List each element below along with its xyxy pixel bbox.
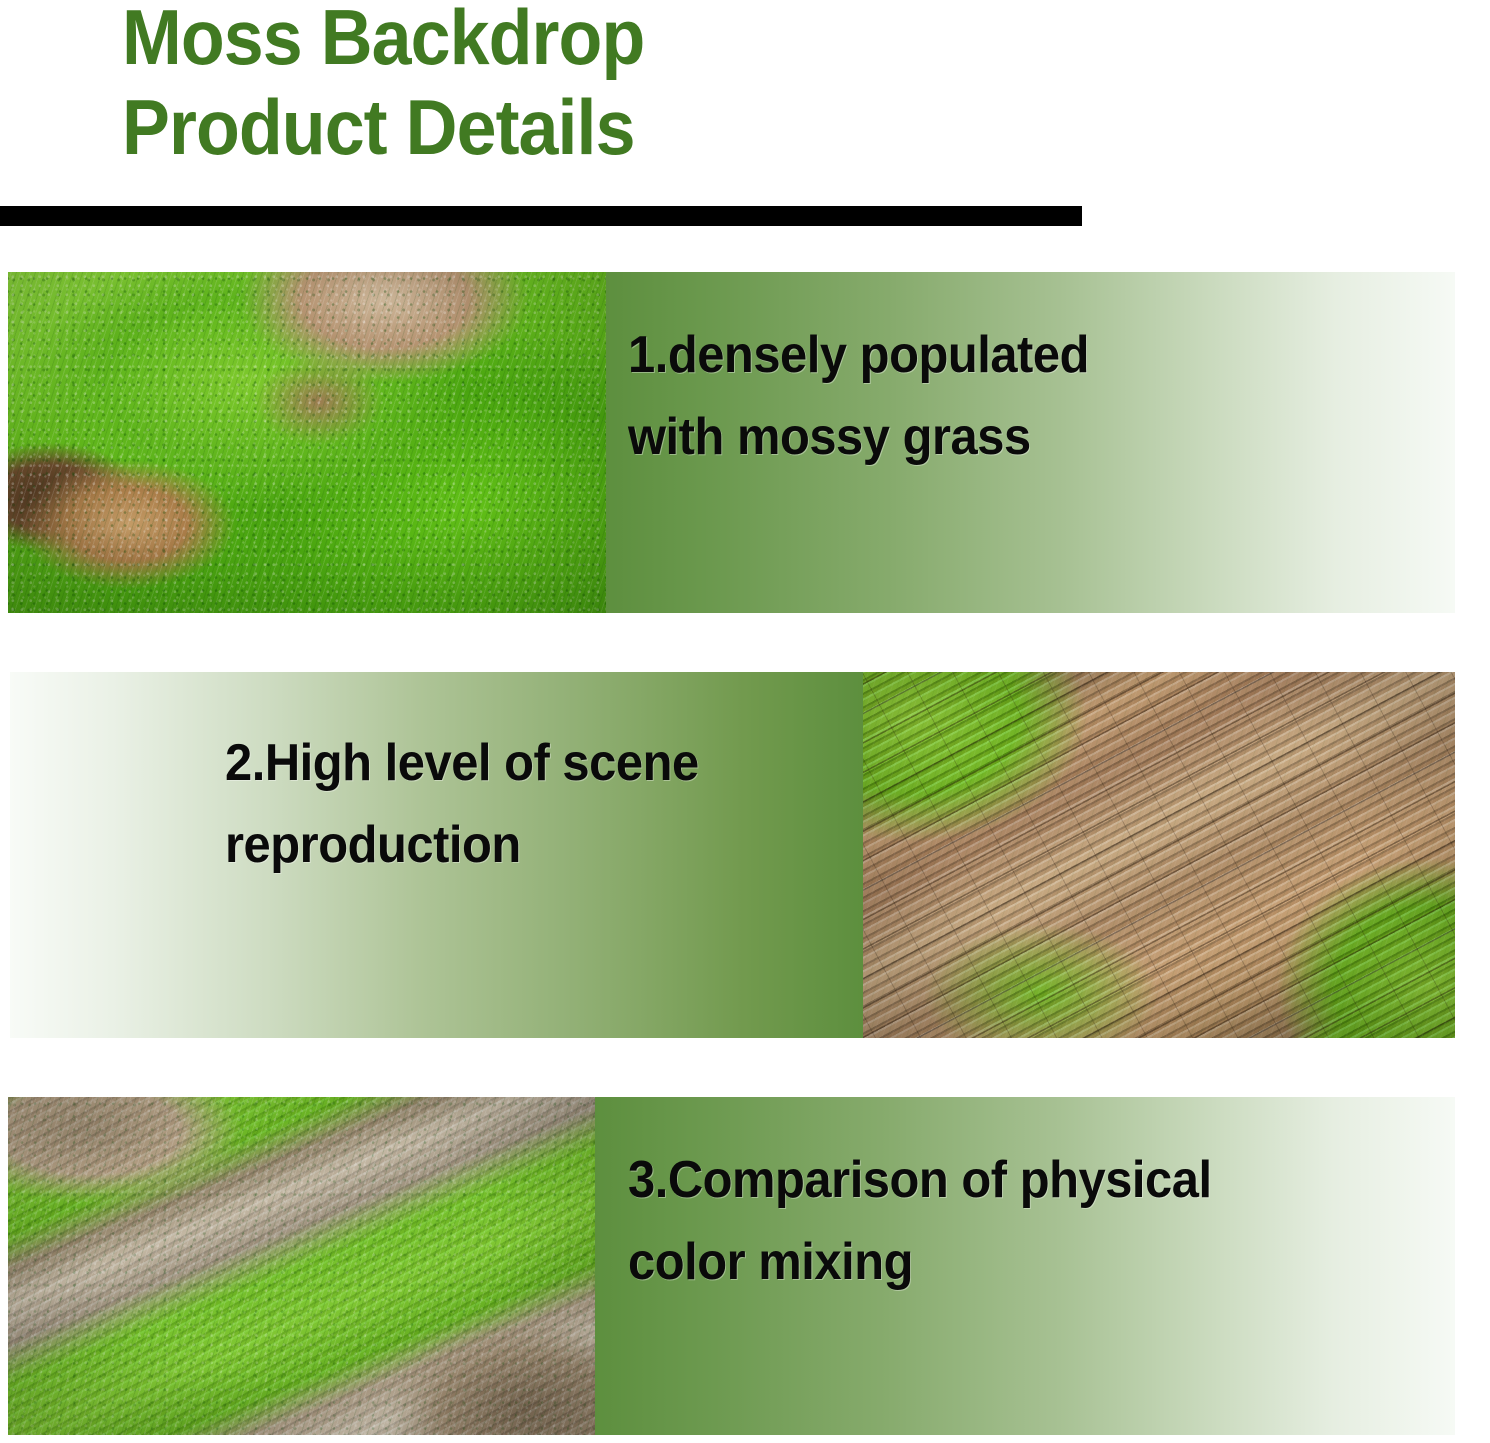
feature-row-2: 2.High level of scene reproduction — [10, 672, 1455, 1038]
feature-text-3-line-2: color mixing — [628, 1221, 1212, 1303]
title-divider-rule — [0, 206, 1082, 226]
page-title-line-2: Product Details — [122, 82, 1042, 172]
feature-text-3: 3.Comparison of physical color mixing — [628, 1139, 1212, 1303]
feature-text-2: 2.High level of scene reproduction — [225, 722, 699, 886]
feature-image-1 — [8, 272, 606, 613]
image-vignette-1 — [8, 272, 606, 613]
feature-text-2-line-2: reproduction — [225, 804, 699, 886]
page-title: Moss Backdrop Product Details — [122, 0, 1122, 172]
feature-text-1: 1.densely populated with mossy grass — [628, 314, 1089, 478]
image-vignette-2 — [863, 672, 1455, 1038]
feature-row-1: 1.densely populated with mossy grass — [8, 272, 1455, 613]
feature-text-1-line-1: 1.densely populated — [628, 314, 1089, 396]
feature-text-2-line-1: 2.High level of scene — [225, 722, 699, 804]
feature-text-3-line-1: 3.Comparison of physical — [628, 1139, 1212, 1221]
feature-row-3: 3.Comparison of physical color mixing — [8, 1097, 1455, 1435]
feature-image-3 — [8, 1097, 595, 1435]
feature-text-1-line-2: with mossy grass — [628, 396, 1089, 478]
feature-image-2 — [863, 672, 1455, 1038]
page-title-line-1: Moss Backdrop — [122, 0, 1042, 82]
image-vignette-3 — [8, 1097, 595, 1435]
